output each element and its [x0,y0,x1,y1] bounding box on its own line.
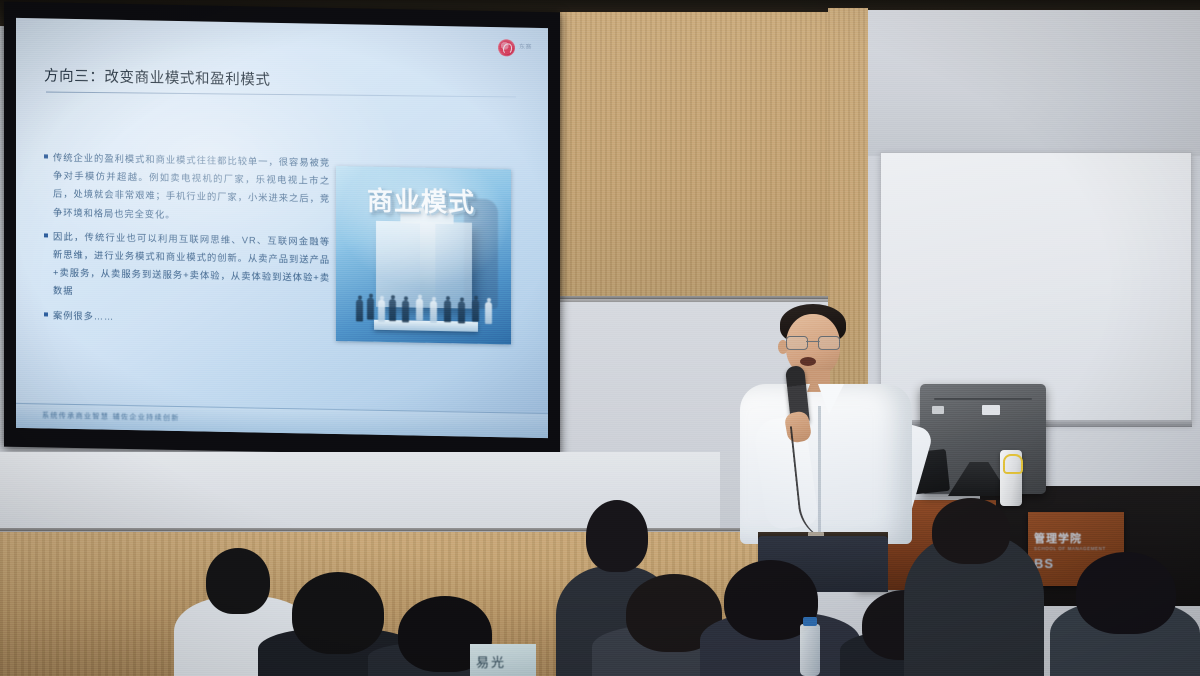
desk-sign-subtitle: SCHOOL OF MANAGEMENT [1034,546,1106,551]
monitor-vent [934,398,1032,400]
monitor-label-left [932,406,944,414]
bottle-cap [803,617,817,626]
slide-bullet: 传统企业的盈利模式和商业模式往往都比较单一，很容易被竞争对手模仿并超越。例如卖电… [44,148,330,226]
donsee-swirl-logo-icon [498,39,515,56]
projection-screen-frame: 东赛 方向三：改变商业模式和盈利模式 传统企业的盈利模式和商业模式往往都比较单一… [4,2,560,458]
thermos-handle [1003,454,1023,474]
desk-sign-chinese: 管理学院 [1034,530,1082,546]
list-item [586,500,648,572]
slide-title-rule [46,92,516,98]
water-bottle [800,624,820,676]
slide-title: 方向三：改变商业模式和盈利模式 [44,64,271,89]
list-item [206,548,270,614]
wood-panel-center [560,12,828,298]
slide-bullet-text: 因此，传统行业也可以利用互联网思维、VR、互联网金融等新思维，进行业务模式和商业… [53,227,330,305]
upper-white-wall-right [868,10,1200,156]
slide-footer-bar: 系统传承商业智慧 辅佐企业持续创新 [16,403,548,438]
audience-placard: 易光 [470,644,536,676]
presenter [734,300,920,590]
monitor-label-right [982,405,1000,415]
slide-picture-business-model: 商业模式 [336,166,511,344]
placard-text: 易光 [476,652,506,671]
lecture-hall-photo: 东赛 方向三：改变商业模式和盈利模式 传统企业的盈利模式和商业模式往往都比较单一… [0,0,1200,676]
slide-logo: 东赛 [498,39,532,57]
presenter-mouth [800,357,816,366]
slide-body: 传统企业的盈利模式和商业模式往往都比较单一，很容易被竞争对手模仿并超越。例如卖电… [44,148,330,335]
slide-bullet-text: 传统企业的盈利模式和商业模式往往都比较单一，很容易被竞争对手模仿并超越。例如卖电… [53,149,330,227]
slide-logo-brand: 东赛 [519,45,532,52]
bullet-square-icon [44,233,48,237]
slide-logo-text: 东赛 [519,45,532,52]
slide-bullet-text: 案例很多…… [53,306,114,325]
list-item [292,572,384,654]
picture-haze [336,166,511,344]
slide-footer-tagline: 系统传承商业智慧 辅佐企业持续创新 [42,410,180,423]
projection-screen: 东赛 方向三：改变商业模式和盈利模式 传统企业的盈利模式和商业模式往往都比较单一… [16,18,548,438]
bullet-square-icon [44,312,48,316]
slide-bullet: 因此，传统行业也可以利用互联网思维、VR、互联网金融等新思维，进行业务模式和商业… [44,227,330,305]
list-item [1076,552,1176,634]
slide-copyright: CopyRights 2013-2016 Donsee Consulting A… [362,18,536,22]
bullet-square-icon [44,154,48,158]
presenter-glasses-icon [786,336,840,348]
slide-bullet: 案例很多…… [44,306,330,330]
white-thermos-flask [1000,450,1022,506]
list-item [932,498,1010,564]
